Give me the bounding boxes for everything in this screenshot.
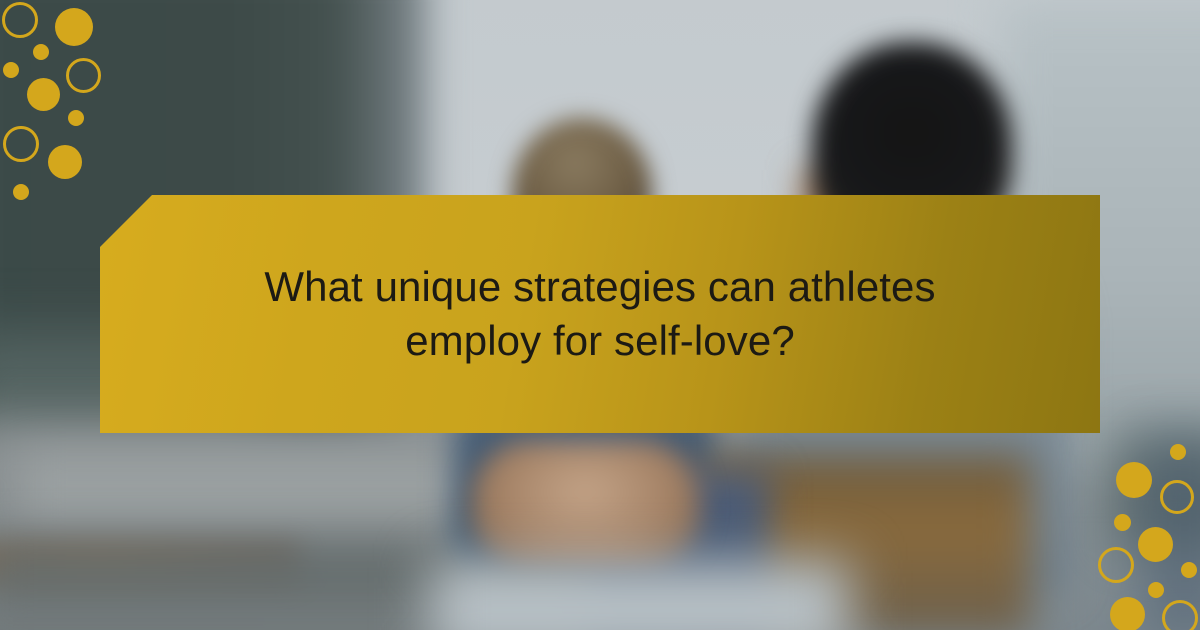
headline-banner-inner: What unique strategies can athletes empl… — [210, 260, 990, 368]
page-title: What unique strategies can athletes empl… — [210, 260, 990, 368]
social-share-card: What unique strategies can athletes empl… — [0, 0, 1200, 630]
background-right-blue — [1140, 440, 1200, 630]
background-person-left-arms — [470, 440, 700, 570]
page-title-line-1: What unique strategies can athletes — [264, 263, 935, 310]
background-floor-highlight — [430, 560, 850, 630]
page-title-line-2: employ for self-love? — [405, 317, 795, 364]
headline-banner: What unique strategies can athletes empl… — [100, 195, 1100, 433]
